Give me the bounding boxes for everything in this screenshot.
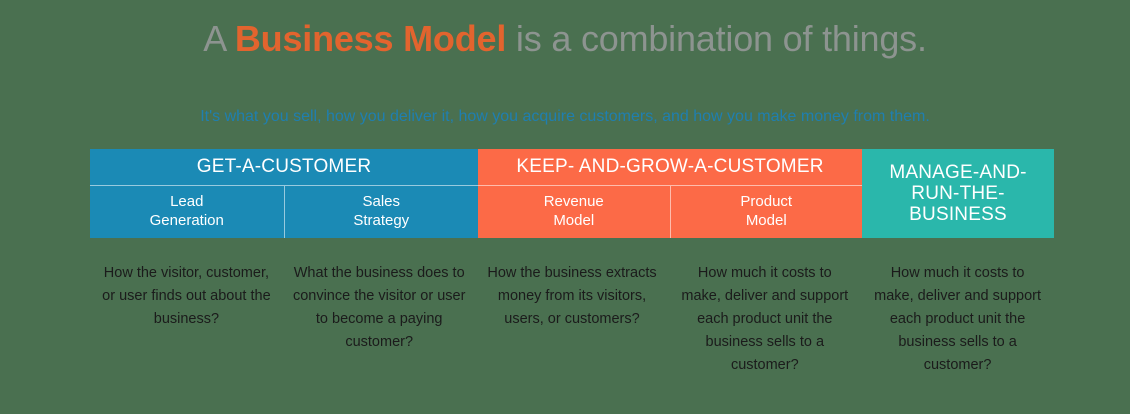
description-sales-strategy: What the business does to convince the v… bbox=[283, 262, 476, 377]
matrix-subcell-lead-generation: Lead Generation bbox=[90, 186, 284, 238]
matrix-subcell-line1: Lead bbox=[170, 193, 203, 212]
matrix-subcell-sales-strategy: Sales Strategy bbox=[284, 186, 479, 238]
description-row: How the visitor, customer, or user finds… bbox=[90, 262, 1054, 377]
matrix-group-header: KEEP- AND-GROW-A-CUSTOMER bbox=[478, 149, 862, 186]
matrix-group-header: GET-A-CUSTOMER bbox=[90, 149, 478, 186]
matrix-group-header: MANAGE-AND-RUN-THE-BUSINESS bbox=[862, 149, 1054, 238]
matrix-subcell-line2: Model bbox=[553, 212, 594, 231]
matrix-group-get-a-customer: GET-A-CUSTOMER Lead Generation Sales Str… bbox=[90, 149, 478, 238]
page-title-highlight: Business Model bbox=[235, 18, 506, 59]
matrix-subcell-row: Revenue Model Product Model bbox=[478, 186, 862, 238]
matrix-subcell-row: Lead Generation Sales Strategy bbox=[90, 186, 478, 238]
page-title: A Business Model is a combination of thi… bbox=[0, 18, 1130, 60]
business-model-matrix: GET-A-CUSTOMER Lead Generation Sales Str… bbox=[90, 149, 1054, 238]
description-manage-and-run: How much it costs to make, deliver and s… bbox=[861, 262, 1054, 377]
matrix-subcell-line2: Generation bbox=[150, 212, 224, 231]
page-subtitle: It's what you sell, how you deliver it, … bbox=[0, 108, 1130, 126]
matrix-subcell-line2: Model bbox=[746, 212, 787, 231]
description-revenue-model: How the business extracts money from its… bbox=[476, 262, 669, 377]
matrix-subcell-revenue-model: Revenue Model bbox=[478, 186, 670, 238]
matrix-subcell-line1: Product bbox=[740, 193, 792, 212]
matrix-subcell-product-model: Product Model bbox=[670, 186, 863, 238]
page-title-suffix: is a combination of things. bbox=[506, 18, 927, 59]
matrix-subcell-line1: Sales bbox=[362, 193, 400, 212]
matrix-group-manage-and-run-the-business: MANAGE-AND-RUN-THE-BUSINESS bbox=[862, 149, 1054, 238]
description-lead-generation: How the visitor, customer, or user finds… bbox=[90, 262, 283, 377]
matrix-subcell-line1: Revenue bbox=[544, 193, 604, 212]
page-title-prefix: A bbox=[203, 18, 235, 59]
description-product-model: How much it costs to make, deliver and s… bbox=[668, 262, 861, 377]
matrix-subcell-line2: Strategy bbox=[353, 212, 409, 231]
matrix-group-keep-and-grow-a-customer: KEEP- AND-GROW-A-CUSTOMER Revenue Model … bbox=[478, 149, 862, 238]
